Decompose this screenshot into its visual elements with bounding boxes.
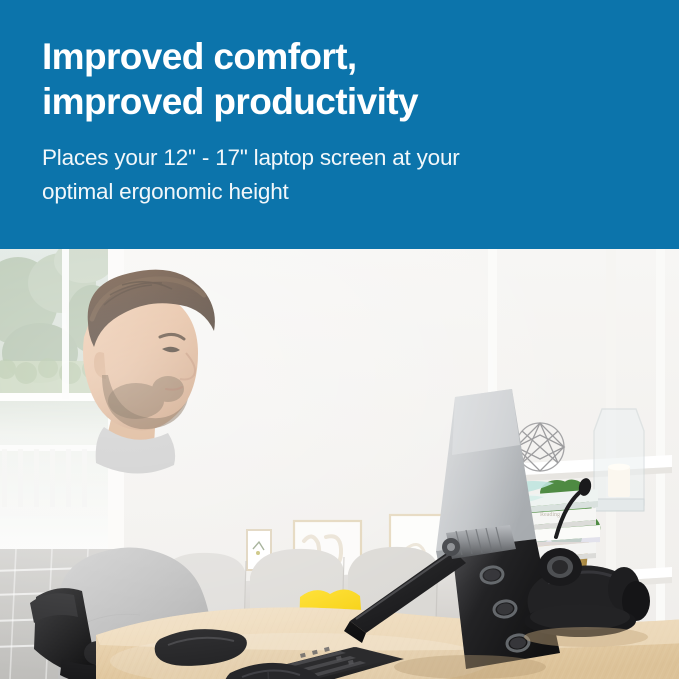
page-title: Improved comfort, improved productivity bbox=[42, 34, 649, 124]
photo-illustration: Reading bbox=[0, 249, 679, 679]
hero-text-block: Improved comfort, improved productivity … bbox=[42, 34, 649, 209]
lifestyle-photo: Reading bbox=[0, 249, 679, 679]
hero-banner: Improved comfort, improved productivity … bbox=[0, 0, 679, 249]
page-subtitle: Places your 12" - 17" laptop screen at y… bbox=[42, 141, 587, 209]
product-feature-image: Improved comfort, improved productivity … bbox=[0, 0, 679, 679]
